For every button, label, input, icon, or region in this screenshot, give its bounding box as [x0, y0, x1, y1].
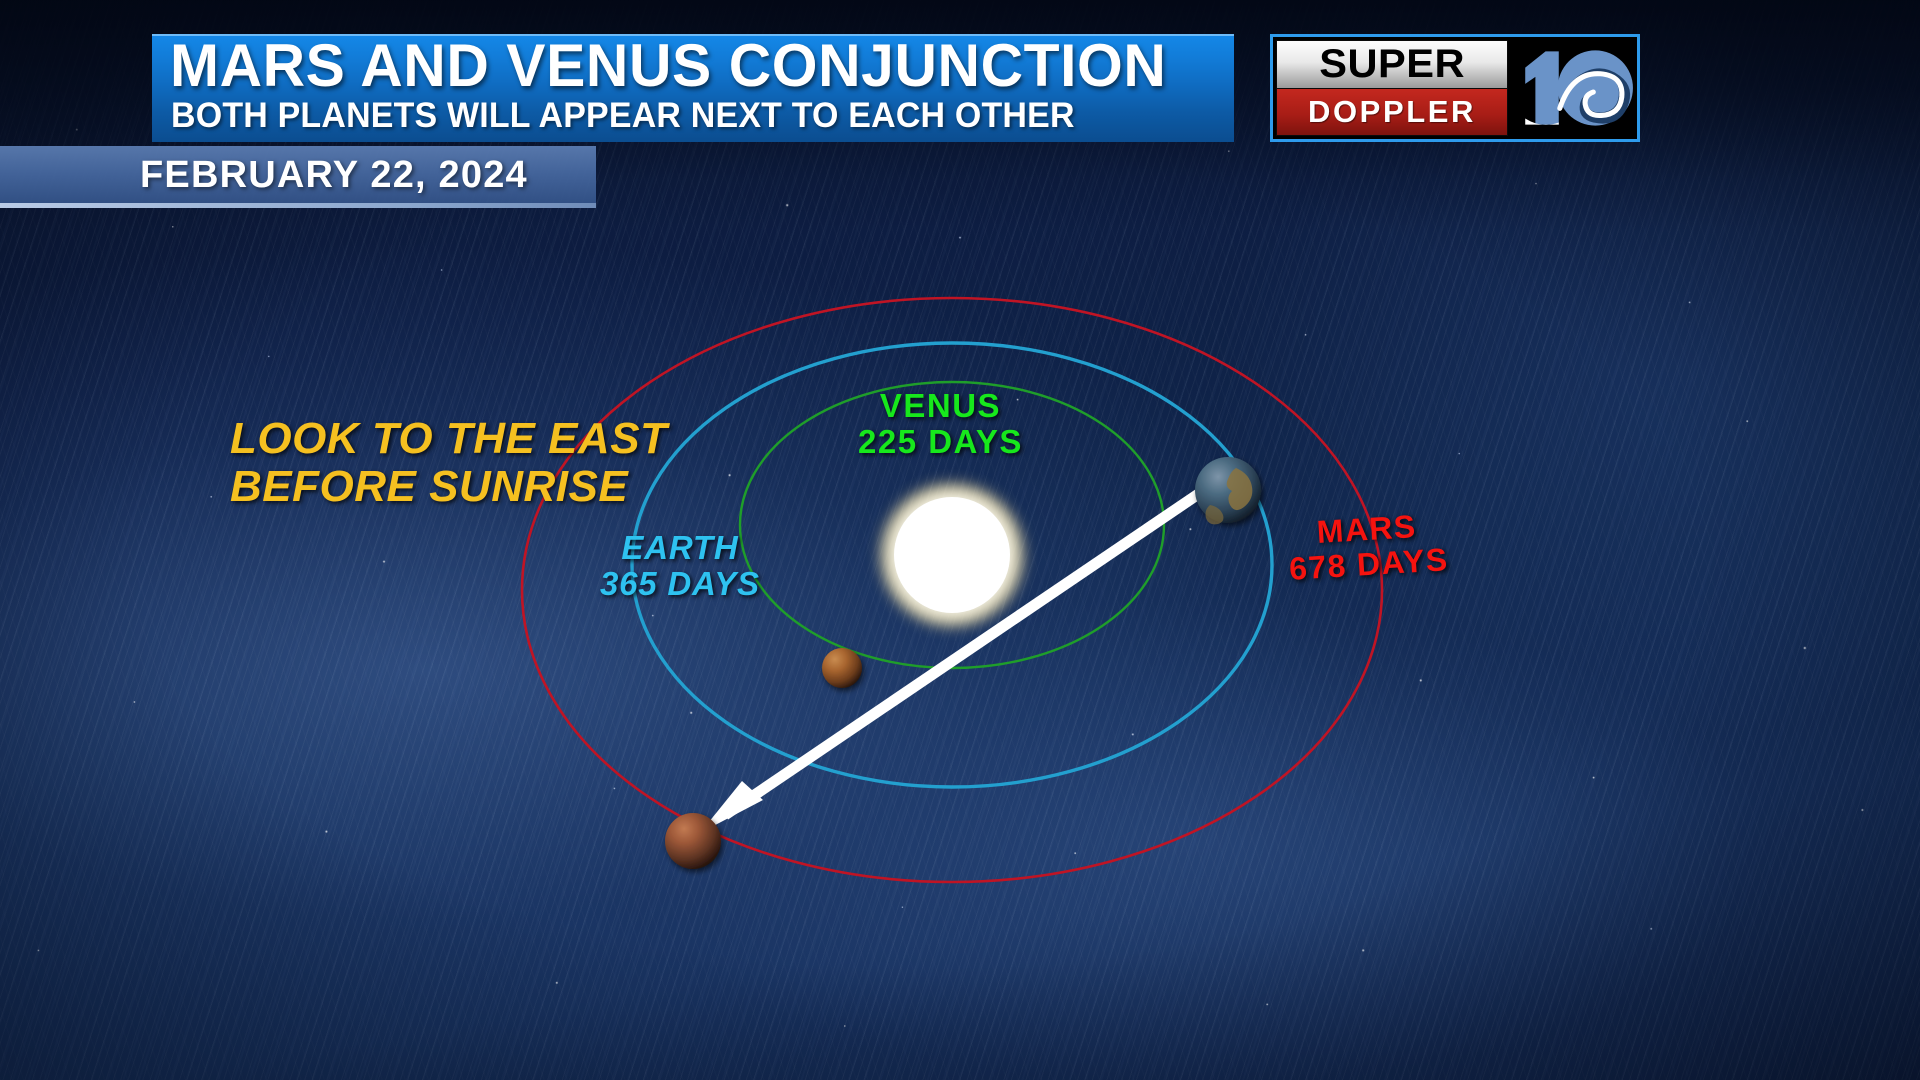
logo-super-text: SUPER	[1319, 44, 1465, 84]
orbit-label-venus: VENUS 225 DAYS	[858, 388, 1023, 459]
title-banner: MARS AND VENUS CONJUNCTION BOTH PLANETS …	[152, 34, 1234, 142]
channel-ten-wave-icon	[1511, 37, 1637, 139]
viewing-advice-text: LOOK TO THE EAST BEFORE SUNRISE	[230, 415, 667, 510]
logo-super-bar: SUPER	[1276, 40, 1508, 89]
channel-ten-mark	[1511, 37, 1637, 139]
orbit-label-mars: MARS 678 DAYS	[1286, 507, 1449, 586]
date-text: FEBRUARY 22, 2024	[140, 154, 528, 197]
page-subtitle: BOTH PLANETS WILL APPEAR NEXT TO EACH OT…	[171, 96, 1075, 136]
page-title: MARS AND VENUS CONJUNCTION	[170, 31, 1166, 100]
orbit-label-earth-period: 365 DAYS	[600, 566, 760, 602]
station-logo: SUPER DOPPLER	[1270, 34, 1640, 142]
super-doppler-wordmark: SUPER DOPPLER	[1273, 37, 1511, 139]
orbit-label-venus-name: VENUS	[880, 387, 1001, 424]
sun-body	[894, 497, 1010, 613]
viewing-advice-line2: BEFORE SUNRISE	[230, 463, 667, 511]
date-banner-underline	[0, 203, 596, 208]
planet-mars	[665, 813, 721, 869]
weather-graphic: LOOK TO THE EAST BEFORE SUNRISE VENUS 22…	[0, 0, 1920, 1080]
orbit-label-earth: EARTH 365 DAYS	[600, 530, 760, 601]
planet-venus	[822, 648, 862, 688]
date-banner: FEBRUARY 22, 2024	[0, 146, 596, 203]
viewing-advice-line1: LOOK TO THE EAST	[230, 414, 667, 463]
orbit-label-venus-period: 225 DAYS	[858, 424, 1023, 460]
logo-doppler-bar: DOPPLER	[1276, 89, 1508, 136]
orbit-label-earth-name: EARTH	[621, 529, 738, 566]
logo-doppler-text: DOPPLER	[1308, 96, 1476, 127]
